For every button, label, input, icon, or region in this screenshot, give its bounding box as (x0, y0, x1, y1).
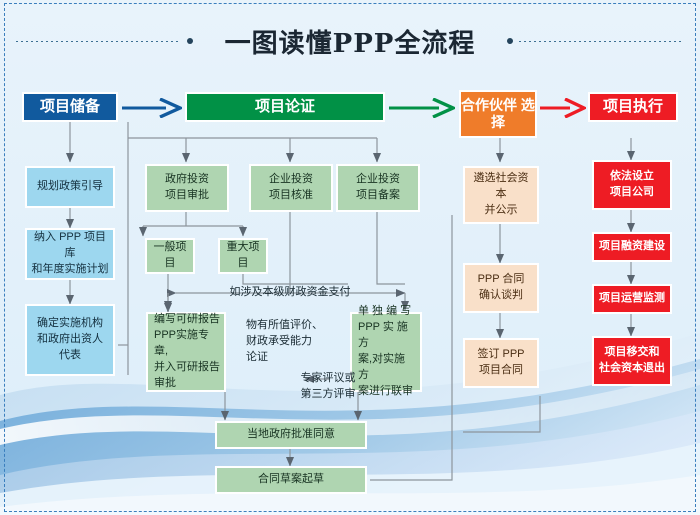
page-title-row: 一图读懂PPP全流程 (0, 20, 700, 62)
arrow-blue (122, 98, 182, 118)
title-bullet-left (187, 38, 193, 44)
page-title: 一图读懂PPP全流程 (199, 23, 502, 60)
box-planning-policy-guidance[interactable]: 规划政策引导 (25, 166, 115, 208)
box-implementing-agency[interactable]: 确定实施机构 和政府出资人 代表 (25, 304, 115, 376)
box-project-financing-construction[interactable]: 项目融资建设 (592, 232, 672, 262)
box-ppp-project-library[interactable]: 纳入 PPP 项目库 和年度实施计划 (25, 228, 115, 280)
box-ppp-contract-negotiation[interactable]: PPP 合同 确认谈判 (463, 263, 539, 313)
box-major-project[interactable]: 重大项目 (218, 238, 268, 274)
infographic-page: 一图读懂PPP全流程 项目储备 项目论证 合作伙伴 选择 项目执行 (0, 0, 700, 515)
box-contract-draft[interactable]: 合同草案起草 (215, 466, 367, 494)
box-enterprise-investment-verification[interactable]: 企业投资 项目核准 (249, 164, 333, 212)
stage-banner-reserve[interactable]: 项目储备 (22, 92, 118, 122)
arrow-green (389, 98, 455, 118)
box-enterprise-investment-filing[interactable]: 企业投资 项目备案 (336, 164, 420, 212)
box-write-feasibility-report[interactable]: 编写可研报告 PPP实施专章, 并入可研报告 审批 (146, 312, 226, 392)
box-sign-ppp-contract[interactable]: 签订 PPP 项目合同 (463, 338, 539, 388)
label-value-for-money: 物有所值评价、 财政承受能力 论证 (246, 318, 346, 366)
label-expert-review: 专家评议或 第三方评审 (288, 371, 368, 403)
title-dotted-line-right (519, 41, 684, 42)
box-general-project[interactable]: 一般项目 (145, 238, 195, 274)
title-bullet-right (507, 38, 513, 44)
title-dotted-line-left (16, 41, 181, 42)
box-establish-project-company[interactable]: 依法设立 项目公司 (592, 160, 672, 210)
box-select-social-capital[interactable]: 遴选社会资本 并公示 (463, 166, 539, 224)
box-project-transfer-exit[interactable]: 项目移交和 社会资本退出 (592, 336, 672, 386)
stage-banner-partner-selection[interactable]: 合作伙伴 选择 (459, 90, 537, 138)
box-gov-investment-approval[interactable]: 政府投资 项目审批 (145, 164, 229, 212)
arrow-red (540, 98, 586, 118)
label-fiscal-payment-note: 如涉及本级财政资金支付 (200, 285, 380, 301)
box-local-gov-approval[interactable]: 当地政府批准同意 (215, 421, 367, 449)
stage-banner-argumentation[interactable]: 项目论证 (185, 92, 385, 122)
box-project-operation-monitoring[interactable]: 项目运营监测 (592, 284, 672, 314)
stage-banner-execution[interactable]: 项目执行 (588, 92, 678, 122)
